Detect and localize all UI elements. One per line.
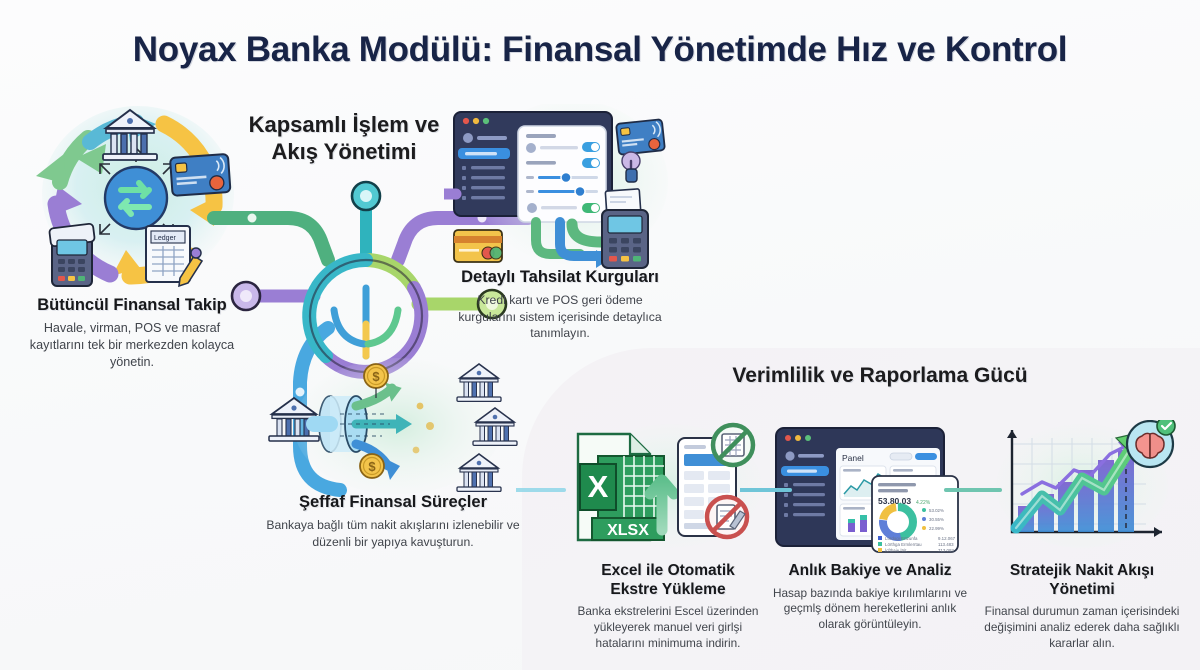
svg-text:XLSX: XLSX: [607, 522, 649, 539]
feature-title: Şeffaf Finansal Süreçler: [262, 493, 524, 512]
section-heading-flow: Kapsamlı İşlem ve Akış Yönetimi: [228, 112, 460, 166]
svg-text:Lordogı Ertzunfa: Lordogı Ertzunfa: [885, 536, 918, 541]
section-heading-efficiency: Verimlilik ve Raporlama Gücü: [700, 363, 1060, 389]
power-card-description: Finansal durumun zaman içerisindeki deği…: [978, 604, 1186, 651]
power-card-title-line1: Anlık Bakiye ve Analiz: [772, 562, 968, 581]
cashflow-distribution-icon: $ $: [248, 358, 538, 498]
panel-inlet-line: [516, 482, 576, 498]
feature-collection-rules: Detaylı Tahsilat Kurguları Kredl kartı v…: [448, 268, 672, 341]
feature-holistic-tracking: Bütüncül Finansal Takip Havale, virman, …: [18, 296, 246, 371]
power-card-description: Hasap bazında bakiye kırılımlarını ve ge…: [772, 586, 968, 633]
feature-title: Detaylı Tahsilat Kurguları: [448, 268, 672, 287]
flow-heading-line2: Akış Yönetimi: [228, 139, 460, 166]
power-card-cashflow: Stratejik Nakit Akışı Yönetimi Finansal …: [978, 562, 1186, 652]
power-card-title: Anlık Bakiye ve Analiz: [772, 562, 968, 581]
svg-text:$: $: [372, 369, 380, 384]
power-card-title-line1: Excel ile Otomatik: [568, 562, 768, 581]
svg-text:30.55%: 30.55%: [929, 517, 944, 522]
svg-text:X: X: [588, 469, 609, 504]
power-card-balance: Anlık Bakiye ve Analiz Hasap bazında bak…: [772, 562, 968, 633]
power-card-excel: Excel ile Otomatik Ekstre Yükleme Banka …: [568, 562, 768, 652]
power-card-description: Banka ekstrelerini Escel üzerinden yükle…: [568, 604, 768, 651]
infographic-canvas: Noyax Banka Modülü: Finansal Yönetimde H…: [0, 0, 1200, 670]
power-card-title-line2: Yönetimi: [978, 581, 1186, 600]
svg-text:713.093: 713.093: [938, 548, 954, 553]
card-connector-lines: [740, 480, 1020, 500]
svg-text:Ledger: Ledger: [154, 235, 176, 242]
feature-title: Bütüncül Finansal Takip: [18, 296, 246, 315]
feature-description: Kredl kartı ve POS geri ödeme kurguların…: [448, 292, 672, 341]
svg-text:53.02%: 53.02%: [929, 508, 944, 513]
svg-text:İcftbaie İtrit: İcftbaie İtrit: [885, 548, 907, 553]
page-title: Noyax Banka Modülü: Finansal Yönetimde H…: [0, 30, 1200, 70]
svg-text:4.22%: 4.22%: [916, 500, 931, 506]
power-card-title: Excel ile Otomatik Ekstre Yükleme: [568, 562, 768, 599]
svg-text:22.99%: 22.99%: [929, 526, 944, 531]
flow-heading-line1: Kapsamlı İşlem ve: [228, 112, 460, 139]
power-card-title-line2: Ekstre Yükleme: [568, 581, 768, 600]
svg-text:$: $: [368, 459, 376, 474]
power-card-title-line1: Stratejik Nakit Akışı: [978, 562, 1186, 581]
svg-text:Lörthga Ermlerrtau: Lörthga Ermlerrtau: [885, 542, 922, 547]
svg-text:9.12.067: 9.12.067: [938, 536, 956, 541]
feature-description: Havale, virman, POS ve masraf kayıtların…: [18, 320, 246, 370]
panel-label: Panel: [842, 453, 864, 463]
pos-terminal-icon: [596, 188, 666, 276]
feature-description: Bankaya bağlı tüm nakit akışlarını izlen…: [262, 517, 524, 549]
feature-transparent-processes: Şeffaf Finansal Süreçler Bankaya bağlı t…: [262, 493, 524, 550]
power-card-title: Stratejik Nakit Akışı Yönetimi: [978, 562, 1186, 599]
svg-text:113.483: 113.483: [938, 542, 954, 547]
